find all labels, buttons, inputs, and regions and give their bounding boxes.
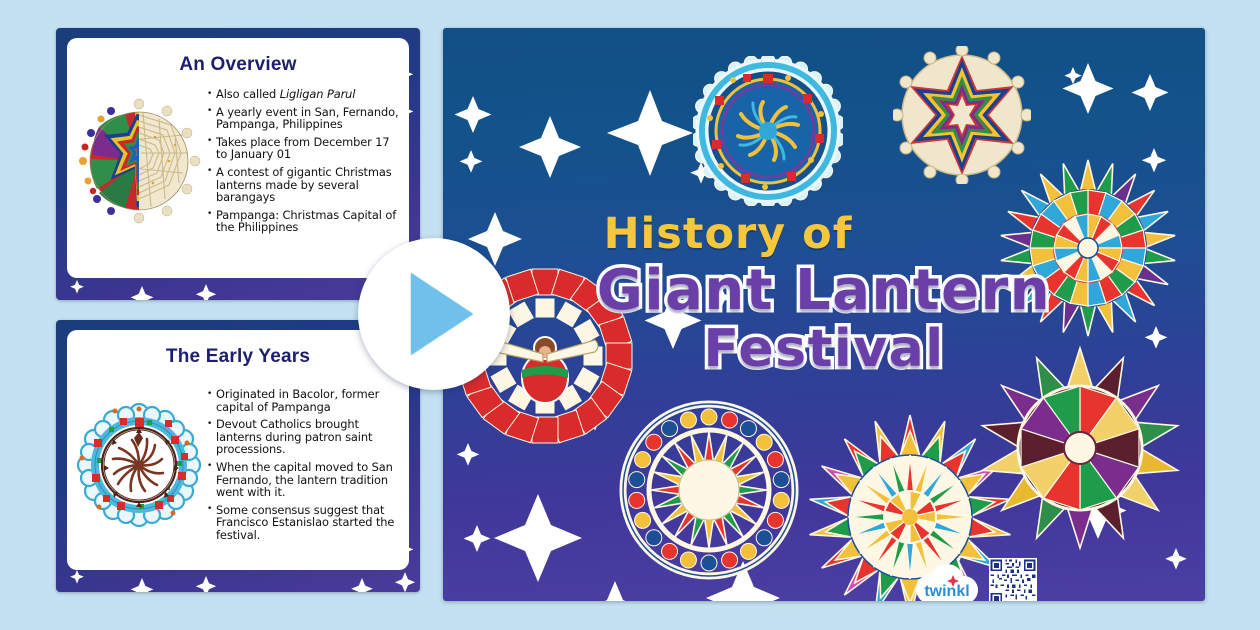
multicolor-ring-lantern	[998, 158, 1178, 338]
bullet-item: Originated in Bacolor, former capital of…	[207, 388, 399, 413]
thumbnail-content-card: The Early Years	[67, 330, 409, 570]
orange-ring-lantern	[619, 400, 799, 580]
thumbnail-content-card: An Overview	[67, 38, 409, 278]
slide-bullet-list: Also called Ligligan ParulA yearly event…	[207, 84, 399, 239]
play-video-button[interactable]	[358, 238, 510, 390]
slide-title: The Early Years	[67, 346, 409, 368]
qr-code[interactable]	[989, 558, 1037, 601]
bullet-item: Devout Catholics brought lanterns during…	[207, 418, 399, 456]
main-slide-preview[interactable]: History of Giant Lantern Festival twinkl	[443, 28, 1205, 601]
bullet-item: A contest of gigantic Christmas lanterns…	[207, 166, 399, 204]
bullet-item: Some consensus suggest that Francisco Es…	[207, 504, 399, 542]
twinkl-wordmark: twinkl	[924, 583, 969, 600]
bullet-item: Takes place from December 17 to January …	[207, 136, 399, 161]
cyan-pinwheel-lantern-artwork	[75, 384, 203, 547]
gold-purple-lantern	[973, 346, 1188, 551]
twinkl-logo: twinkl	[911, 563, 983, 601]
bullet-item: Also called Ligligan Parul	[207, 88, 399, 101]
play-triangle-icon	[411, 273, 473, 355]
bullet-item: When the capital moved to San Fernando, …	[207, 461, 399, 499]
half-colored-star-lantern-artwork	[75, 84, 203, 239]
slide-thumbnail-early-years[interactable]: The Early Years	[56, 320, 420, 592]
page-root: An Overview	[0, 0, 1260, 630]
slide-bullet-list: Originated in Bacolor, former capital of…	[207, 384, 399, 547]
slide-title: An Overview	[67, 54, 409, 76]
slide-thumbnail-overview[interactable]: An Overview	[56, 28, 420, 300]
bullet-item: Pampanga: Christmas Capital of the Phili…	[207, 209, 399, 234]
cyan-mandala-lantern	[693, 56, 843, 206]
bullet-item: A yearly event in San, Fernando, Pampang…	[207, 106, 399, 131]
